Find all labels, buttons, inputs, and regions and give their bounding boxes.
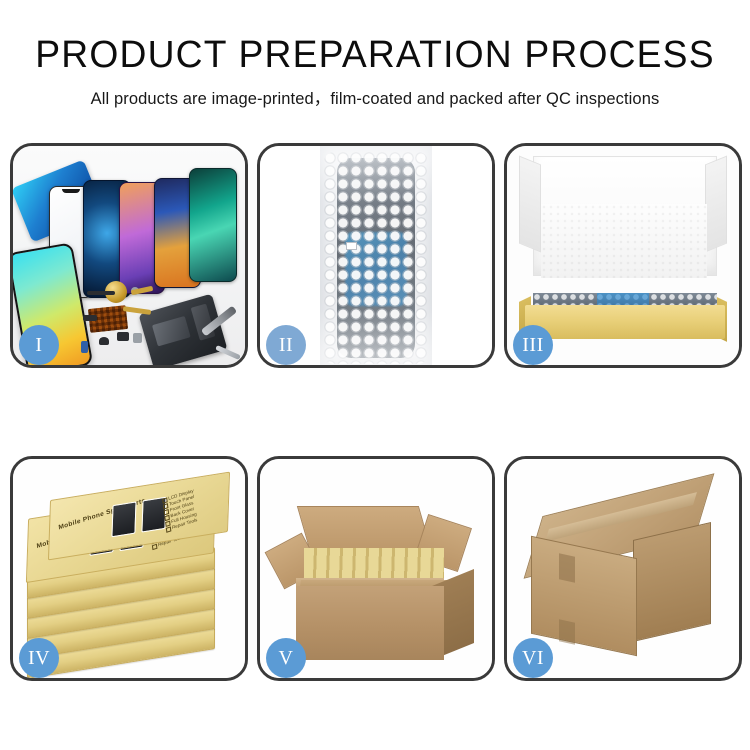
sealed-carton-side (633, 522, 711, 642)
process-step-4[interactable]: Mobile Phone Spare Parts LCD Display Tou… (10, 456, 248, 681)
step-badge-5: V (266, 638, 306, 678)
process-step-3[interactable]: III (504, 143, 742, 368)
step-badge-3: III (513, 325, 553, 365)
phone-screen-teal (189, 168, 237, 282)
carton-front-panel (296, 586, 444, 660)
page-title: PRODUCT PREPARATION PROCESS (8, 0, 743, 74)
process-step-1[interactable]: I (10, 143, 248, 368)
wrap-highlight (320, 146, 432, 365)
carton-seam (559, 553, 575, 582)
step-badge-1: I (19, 325, 59, 365)
carton-seam (559, 619, 575, 644)
small-part (133, 333, 142, 343)
retail-box-window (111, 501, 136, 537)
foam-liner (541, 204, 707, 278)
small-part (99, 337, 109, 345)
page-subtitle: All products are image-printed，film-coat… (0, 74, 750, 109)
notch-icon (62, 189, 80, 193)
step-badge-4: IV (19, 638, 59, 678)
product-label-tag (346, 242, 357, 250)
page-header: PRODUCT PREPARATION PROCESS All products… (0, 0, 750, 109)
process-step-grid: I II III (10, 143, 742, 681)
process-step-2[interactable]: II (257, 143, 495, 368)
box-lid-right-flap (705, 156, 727, 253)
process-step-5[interactable]: V (257, 456, 495, 681)
small-part (81, 341, 88, 353)
screwdriver-tool (215, 345, 241, 360)
small-part (83, 315, 97, 321)
carton-contents (304, 548, 444, 582)
step-badge-2: II (266, 325, 306, 365)
small-part (117, 332, 129, 341)
small-part (87, 291, 115, 295)
retail-box-checklist: LCD Display Touch Panel Front Glass Back… (162, 480, 222, 532)
process-step-6[interactable]: VI (504, 456, 742, 681)
step-badge-6: VI (513, 638, 553, 678)
box-lid-left-flap (519, 156, 541, 253)
flex-cable-part (123, 306, 151, 315)
box-front-wall (525, 305, 725, 339)
